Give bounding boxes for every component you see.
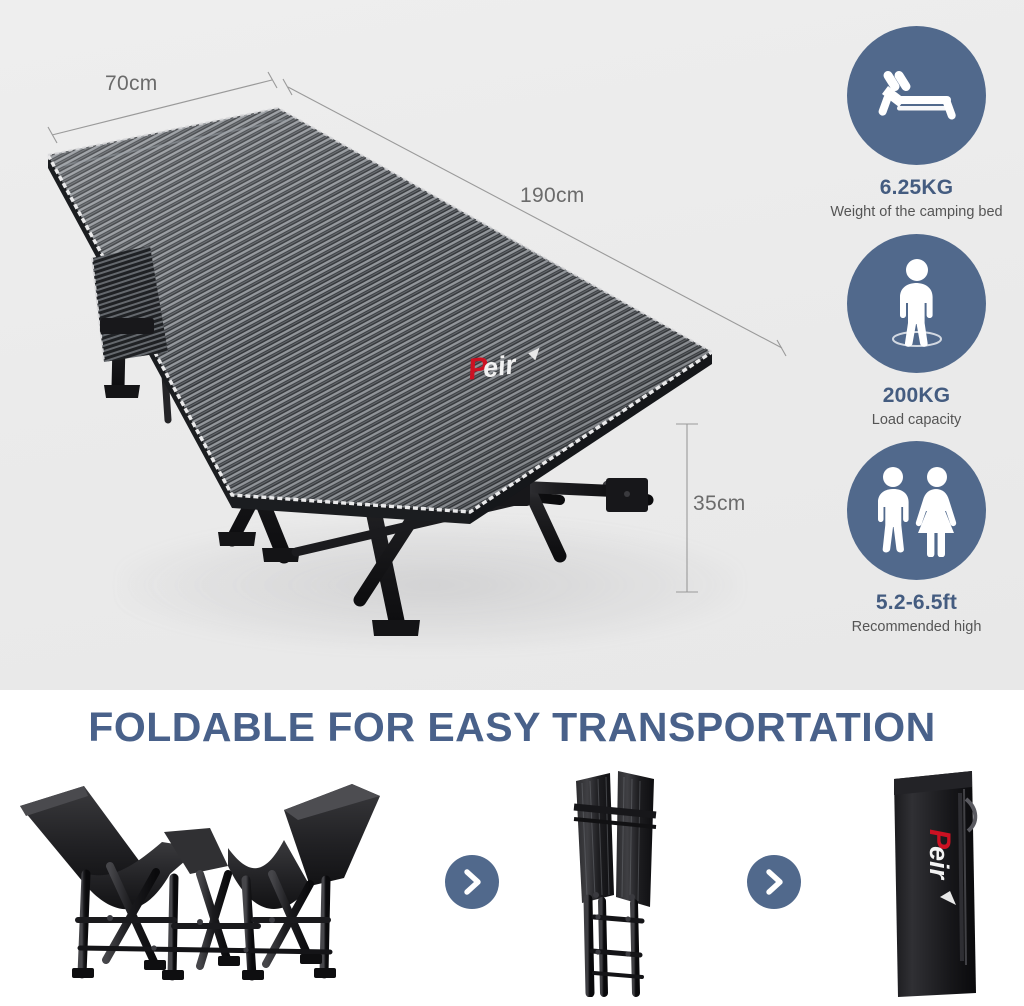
feature-caption: Recommended high xyxy=(852,620,982,635)
feature-weight: 6.25KG Weight of the camping bed xyxy=(809,26,1024,220)
feature-value: 200KG xyxy=(883,385,951,406)
camping-bed-illustration: P eir xyxy=(0,0,800,690)
person-standing-icon xyxy=(878,257,956,349)
page-title: FOLDABLE FOR EASY TRANSPORTATION xyxy=(88,704,935,750)
feature-value: 5.2-6.5ft xyxy=(876,592,957,613)
feature-caption: Weight of the camping bed xyxy=(830,205,1002,220)
feature-list: 6.25KG Weight of the camping bed xyxy=(809,0,1024,690)
feature-load-capacity: 200KG Load capacity xyxy=(809,234,1024,428)
height-dimension-label: 35cm xyxy=(693,492,746,516)
feature-icon-circle xyxy=(847,441,986,580)
feature-icon-circle xyxy=(847,234,986,373)
feature-icon-circle xyxy=(847,26,986,165)
section-headline-wrap: FOLDABLE FOR EASY TRANSPORTATION xyxy=(0,704,1024,751)
step-cot-fully-folded xyxy=(558,767,688,997)
folding-steps: P eir xyxy=(0,762,1024,1002)
specs-section: P eir 70cm 190cm 35cm xyxy=(0,0,1024,690)
product-infographic: P eir 70cm 190cm 35cm xyxy=(0,0,1024,1006)
svg-text:eir: eir xyxy=(481,349,519,384)
feature-caption: Load capacity xyxy=(872,413,961,428)
chevron-right-icon xyxy=(445,855,499,909)
feature-value: 6.25KG xyxy=(880,177,954,198)
transportation-section: FOLDABLE FOR EASY TRANSPORTATION xyxy=(0,690,1024,1006)
length-dimension-label: 190cm xyxy=(520,184,585,208)
step-carry-bag: P eir xyxy=(860,765,1010,1000)
two-people-icon xyxy=(867,465,967,557)
feature-recommended-height: 5.2-6.5ft Recommended high xyxy=(809,441,1024,635)
svg-text:eir: eir xyxy=(924,846,954,881)
chevron-right-icon xyxy=(747,855,801,909)
step-cot-partially-folded xyxy=(14,770,386,995)
width-dimension-label: 70cm xyxy=(105,72,158,96)
camping-bed-icon xyxy=(875,66,959,126)
